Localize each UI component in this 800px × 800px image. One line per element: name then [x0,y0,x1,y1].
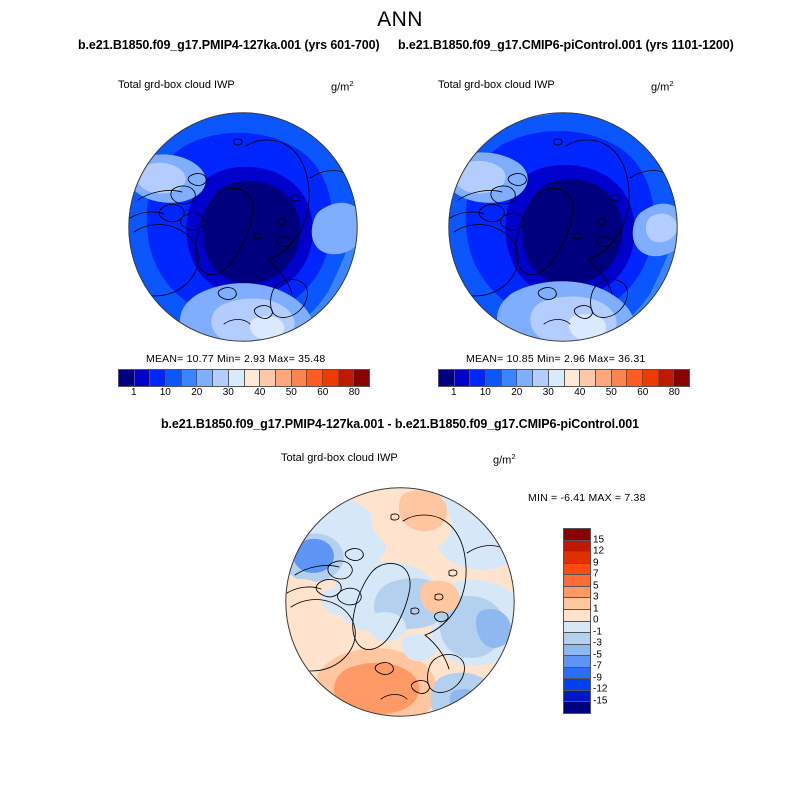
field-label-left: Total grd-box cloud IWP [118,79,235,91]
colorbar-band [291,370,307,386]
polar-map-left[interactable] [128,112,358,342]
unit-label-diff: g/m2 [493,452,516,467]
colorbar-band [564,701,590,713]
colorbar-band [611,370,627,386]
colorbar-band [244,370,260,386]
colorbar-tick-label: 12 [593,546,604,557]
colorbar-tick-label: 1 [131,387,137,398]
unit-text-right: g/m [651,82,669,94]
colorbar-difference-ticks: 1512975310-1-3-5-7-9-12-15 [593,528,633,712]
colorbar-tick-label: 15 [593,534,604,545]
stats-right: MEAN= 10.85 Min= 2.96 Max= 36.31 [466,353,645,365]
colorbar-band [548,370,564,386]
colorbar-band [564,690,590,702]
colorbar-tick-label: 40 [574,387,585,398]
colorbar-band [564,621,590,633]
colorbar-band [439,370,454,386]
polar-map-right[interactable] [448,112,678,342]
colorbar-band [469,370,485,386]
unit-text-diff: g/m [493,455,511,467]
colorbar-band [306,370,322,386]
colorbar-band [642,370,658,386]
colorbar-tick-label: 60 [637,387,648,398]
colorbar-band [275,370,291,386]
colorbar-right-ticks: 110203040506080 [438,387,688,401]
colorbar-band [564,667,590,679]
colorbar-band [485,370,501,386]
colorbar-band [259,370,275,386]
colorbar-band [322,370,338,386]
colorbar-band [564,655,590,667]
colorbar-band [564,678,590,690]
colorbar-band [564,563,590,575]
colorbar-tick-label: 80 [349,387,360,398]
colorbar-tick-label: 1 [593,603,599,614]
difference-title: b.e21.B1850.f09_g17.PMIP4-127ka.001 - b.… [0,417,800,431]
colorbar-band [149,370,165,386]
colorbar-band [626,370,642,386]
colorbar-band [564,574,590,586]
colorbar-tick-label: -1 [593,626,602,637]
colorbar-band [532,370,548,386]
unit-text-left: g/m [331,82,349,94]
colorbar-tick-label: -15 [593,695,607,706]
colorbar-band [196,370,212,386]
colorbar-tick-label: 9 [593,557,599,568]
colorbar-tick-label: -12 [593,684,607,695]
colorbar-band [564,632,590,644]
colorbar-tick-label: 5 [593,580,599,591]
colorbar-tick-label: 20 [191,387,202,398]
colorbar-band [595,370,611,386]
colorbar-tick-label: 0 [593,615,599,626]
colorbar-difference[interactable] [563,528,591,714]
colorbar-tick-label: -3 [593,638,602,649]
colorbar-tick-label: -9 [593,672,602,683]
colorbar-band [228,370,244,386]
colorbar-left[interactable] [118,369,370,387]
colorbar-tick-label: 50 [286,387,297,398]
colorbar-tick-label: 50 [606,387,617,398]
colorbar-tick-label: -7 [593,661,602,672]
page-title: ANN [0,8,800,32]
colorbar-band [338,370,354,386]
colorbar-band [673,370,689,386]
colorbar-band [501,370,517,386]
case-title-left: b.e21.B1850.f09_g17.PMIP4-127ka.001 (yrs… [78,38,380,52]
colorbar-band [564,586,590,598]
colorbar-band [564,551,590,563]
field-label-right: Total grd-box cloud IWP [438,79,555,91]
colorbar-tick-label: -5 [593,649,602,660]
stats-left: MEAN= 10.77 Min= 2.93 Max= 35.48 [146,353,325,365]
colorbar-band [119,370,134,386]
colorbar-band [564,529,590,540]
unit-exponent-right: 2 [669,79,673,88]
colorbar-tick-label: 30 [223,387,234,398]
colorbar-band [212,370,228,386]
colorbar-tick-label: 60 [317,387,328,398]
colorbar-tick-label: 10 [160,387,171,398]
unit-label-right: g/m2 [651,79,674,94]
colorbar-band [353,370,369,386]
unit-label-left: g/m2 [331,79,354,94]
stats-difference: MIN = -6.41 MAX = 7.38 [528,492,646,504]
colorbar-band [134,370,150,386]
polar-map-left-svg [128,112,358,342]
colorbar-band [564,370,580,386]
colorbar-band [564,597,590,609]
colorbar-band [658,370,674,386]
colorbar-tick-label: 30 [543,387,554,398]
colorbar-tick-label: 3 [593,592,599,603]
colorbar-tick-label: 10 [480,387,491,398]
case-title-right: b.e21.B1850.f09_g17.CMIP6-piControl.001 … [398,38,734,52]
colorbar-band [516,370,532,386]
colorbar-band [181,370,197,386]
colorbar-band [564,609,590,621]
unit-exponent-left: 2 [349,79,353,88]
colorbar-band [579,370,595,386]
polar-map-right-svg [448,112,678,342]
colorbar-band [454,370,470,386]
colorbar-tick-label: 40 [254,387,265,398]
polar-map-difference[interactable] [285,487,515,717]
colorbar-band [564,644,590,656]
colorbar-right[interactable] [438,369,690,387]
colorbar-left-ticks: 110203040506080 [118,387,368,401]
unit-exponent-diff: 2 [511,452,515,461]
colorbar-tick-label: 1 [451,387,457,398]
colorbar-band [165,370,181,386]
colorbar-tick-label: 20 [511,387,522,398]
colorbar-band [564,540,590,552]
field-label-diff: Total grd-box cloud IWP [281,452,398,464]
colorbar-tick-label: 80 [669,387,680,398]
colorbar-tick-label: 7 [593,569,599,580]
polar-map-difference-svg [285,487,515,717]
